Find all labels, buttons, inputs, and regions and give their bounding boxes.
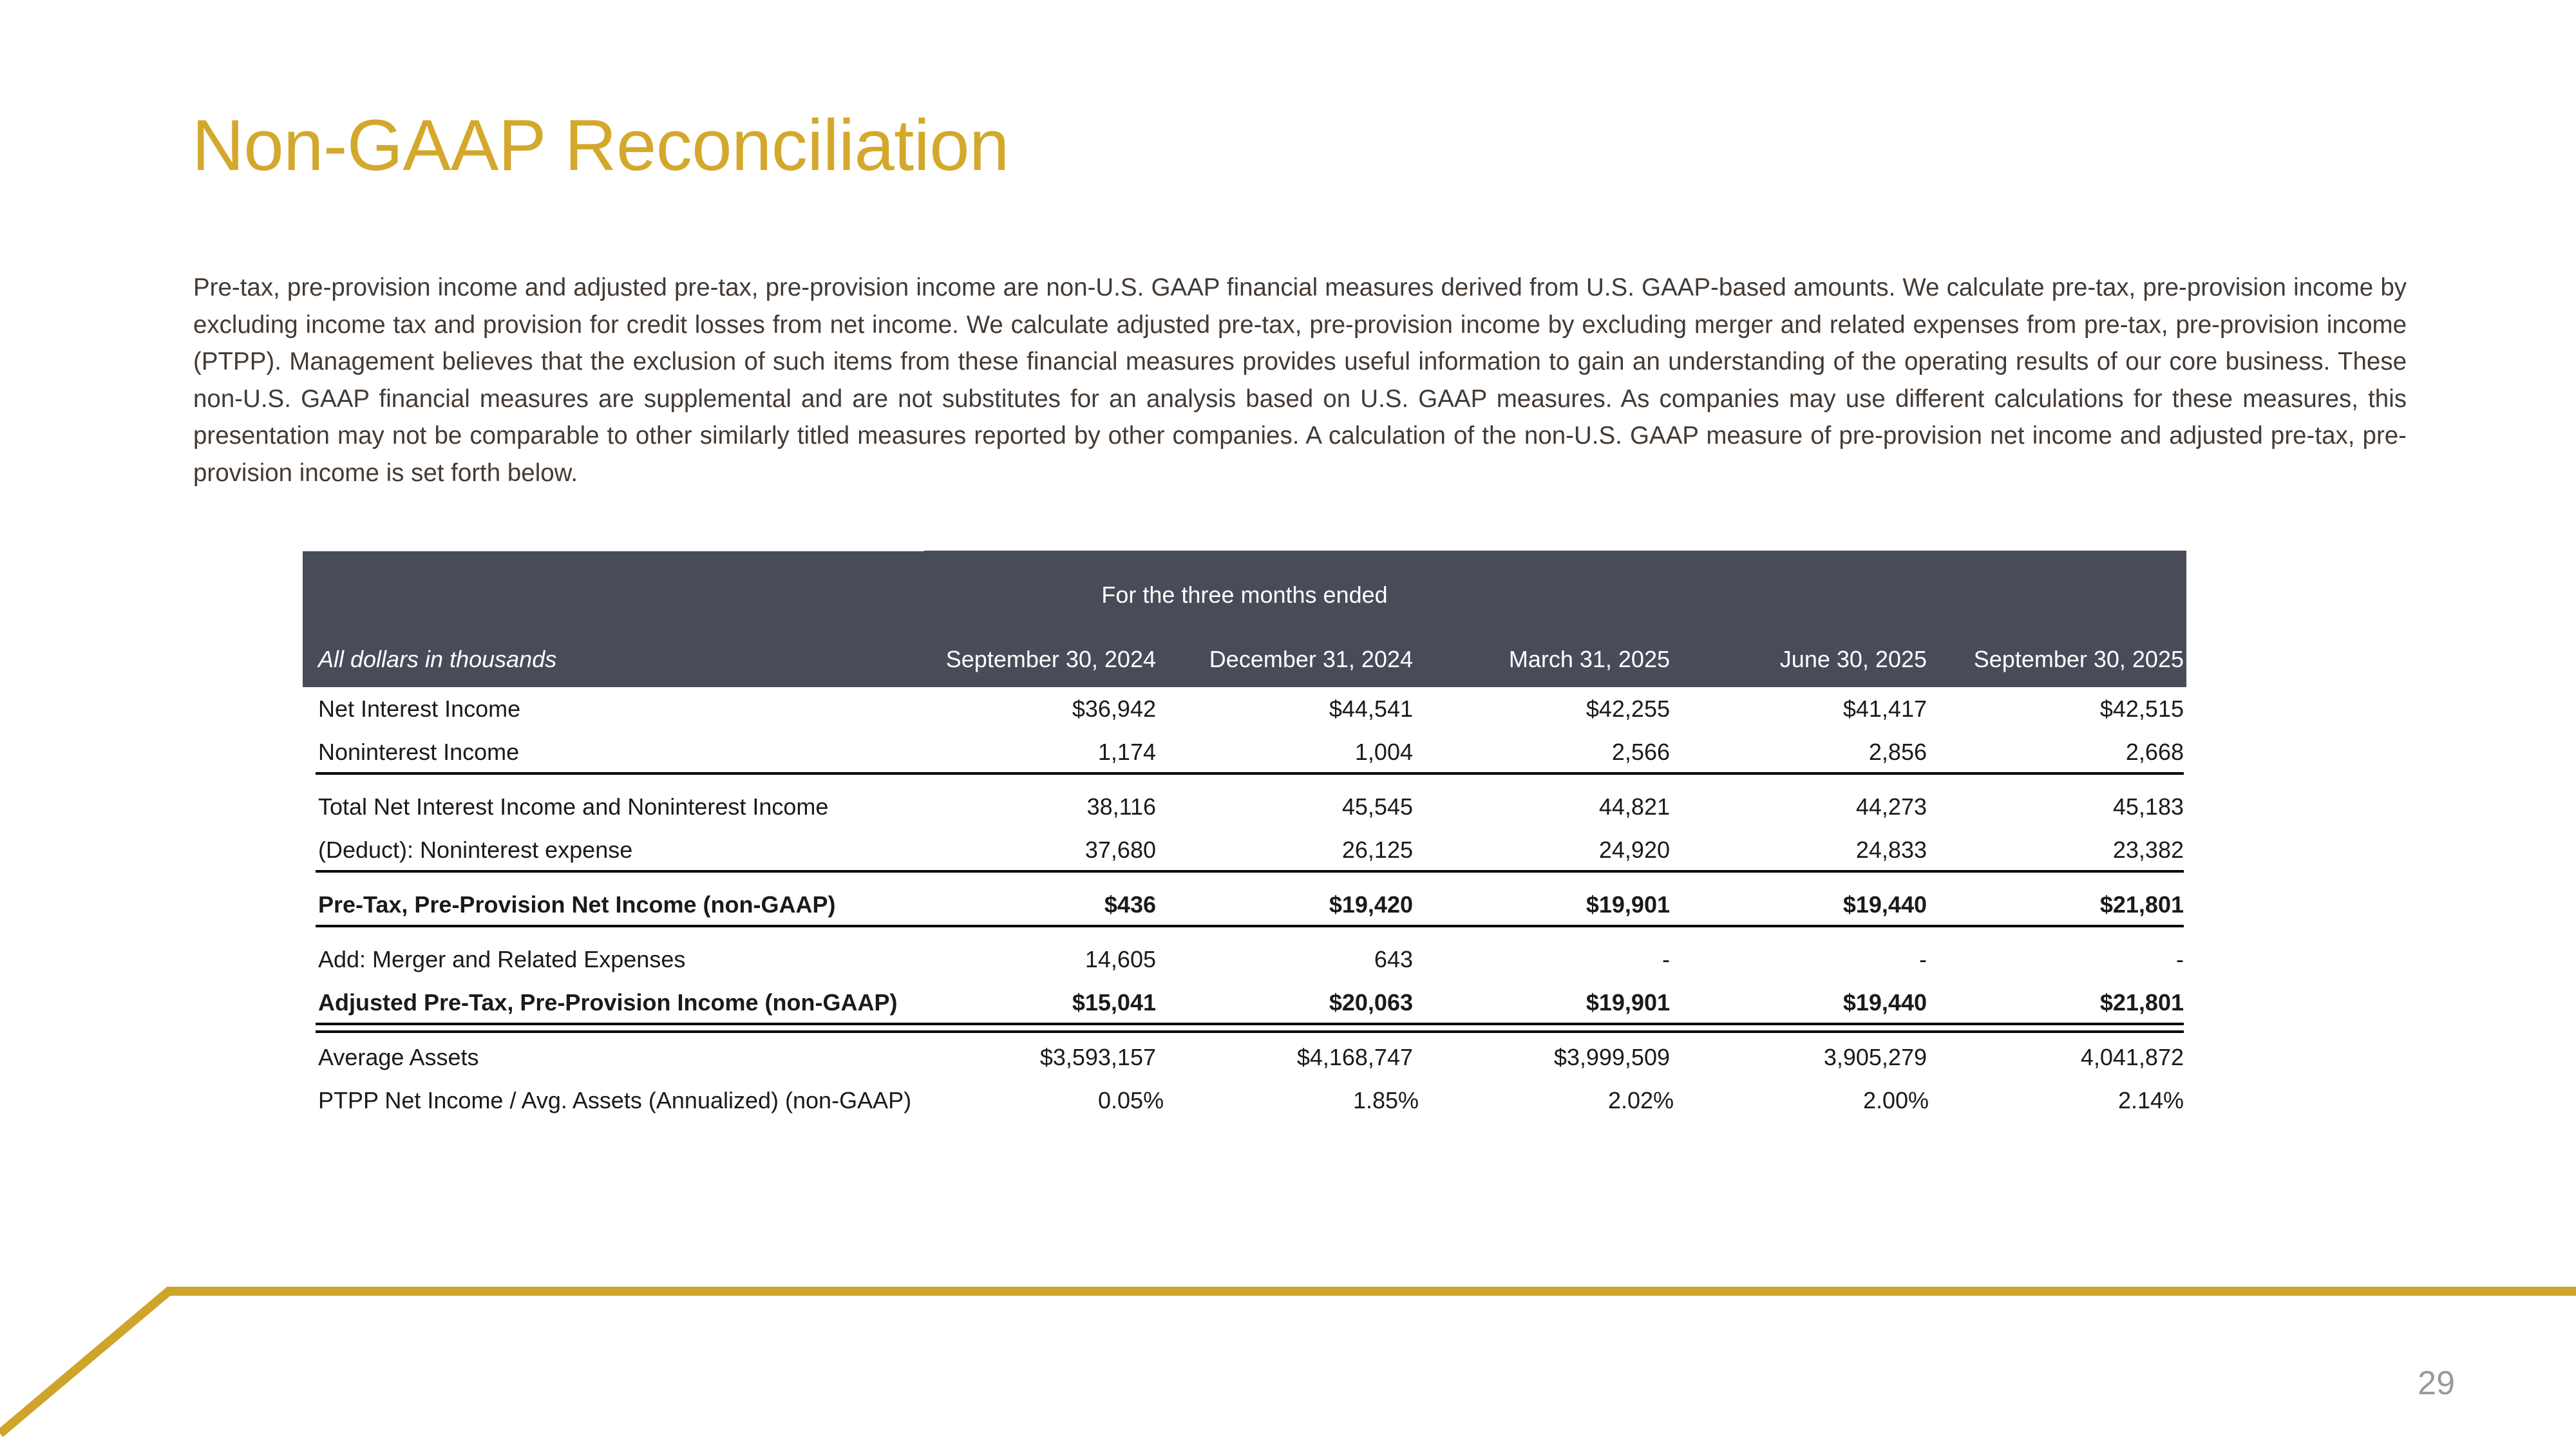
row-value: $4,168,747 (1159, 1044, 1416, 1071)
table-row: (Deduct): Noninterest expense37,68026,12… (303, 828, 2186, 871)
row-label: Adjusted Pre-Tax, Pre-Provision Income (… (303, 989, 902, 1016)
row-label: Total Net Interest Income and Noninteres… (303, 793, 902, 820)
row-value: 1,174 (902, 739, 1159, 766)
period-header: For the three months ended (303, 582, 2186, 609)
row-label: Noninterest Income (303, 739, 902, 766)
row-value: - (1416, 946, 1672, 973)
table-row: Add: Merger and Related Expenses14,60564… (303, 938, 2186, 981)
row-value: $19,901 (1416, 891, 1672, 918)
table-row: Total Net Interest Income and Noninteres… (303, 785, 2186, 828)
row-value: 45,183 (1929, 793, 2186, 820)
row-value: 1,004 (1159, 739, 1416, 766)
row-value: $42,255 (1416, 696, 1672, 723)
row-value: 24,833 (1672, 837, 1929, 864)
row-value: 44,821 (1416, 793, 1672, 820)
row-value: $42,515 (1929, 696, 2186, 723)
row-value: $436 (902, 891, 1159, 918)
units-label: All dollars in thousands (303, 646, 902, 673)
column-header-4: September 30, 2025 (1929, 646, 2186, 673)
row-value: $19,901 (1416, 989, 1672, 1016)
row-value: 3,905,279 (1672, 1044, 1929, 1071)
row-value: 38,116 (902, 793, 1159, 820)
row-value: $3,593,157 (902, 1044, 1159, 1071)
disclosure-paragraph: Pre-tax, pre-provision income and adjust… (193, 269, 2407, 491)
table-row: Pre-Tax, Pre-Provision Net Income (non-G… (303, 883, 2186, 926)
row-value: $21,801 (1929, 989, 2186, 1016)
row-value: 643 (1159, 946, 1416, 973)
gold-accent-line (0, 1262, 2576, 1449)
row-value: 14,605 (902, 946, 1159, 973)
row-value: 24,920 (1416, 837, 1672, 864)
table-header-band: For the three months ended All dollars i… (303, 551, 2186, 687)
row-value: $19,440 (1672, 891, 1929, 918)
row-value: $20,063 (1159, 989, 1416, 1016)
row-value: 0.05% (911, 1087, 1166, 1114)
table-row: Adjusted Pre-Tax, Pre-Provision Income (… (303, 981, 2186, 1024)
row-value: $15,041 (902, 989, 1159, 1016)
row-label: PTPP Net Income / Avg. Assets (Annualize… (303, 1087, 911, 1114)
row-value: 2,856 (1672, 739, 1929, 766)
row-value: $41,417 (1672, 696, 1929, 723)
row-label: Net Interest Income (303, 696, 902, 723)
row-value: 2.00% (1676, 1087, 1931, 1114)
column-header-3: June 30, 2025 (1672, 646, 1929, 673)
page-title: Non-GAAP Reconciliation (192, 109, 1009, 182)
header-notch (303, 545, 924, 551)
row-value: $21,801 (1929, 891, 2186, 918)
row-value: 2.02% (1421, 1087, 1676, 1114)
row-value: 44,273 (1672, 793, 1929, 820)
non-gaap-reconciliation-table: For the three months ended All dollars i… (303, 551, 2186, 1122)
column-header-1: December 31, 2024 (1159, 646, 1416, 673)
row-value: $3,999,509 (1416, 1044, 1672, 1071)
page-number: 29 (2418, 1364, 2455, 1403)
row-value: $19,420 (1159, 891, 1416, 918)
row-value: 37,680 (902, 837, 1159, 864)
row-label: Pre-Tax, Pre-Provision Net Income (non-G… (303, 891, 902, 918)
row-value: $19,440 (1672, 989, 1929, 1016)
table-row: PTPP Net Income / Avg. Assets (Annualize… (303, 1079, 2186, 1122)
row-value: 4,041,872 (1929, 1044, 2186, 1071)
row-value: 2.14% (1931, 1087, 2186, 1114)
table-body: Net Interest Income$36,942$44,541$42,255… (303, 687, 2186, 1122)
row-label: Average Assets (303, 1044, 902, 1071)
row-value: $36,942 (902, 696, 1159, 723)
row-label: (Deduct): Noninterest expense (303, 837, 902, 864)
row-value: 23,382 (1929, 837, 2186, 864)
table-row: Noninterest Income1,1741,0042,5662,8562,… (303, 730, 2186, 773)
row-value: 2,668 (1929, 739, 2186, 766)
row-value: - (1672, 946, 1929, 973)
row-label: Add: Merger and Related Expenses (303, 946, 902, 973)
row-value: 45,545 (1159, 793, 1416, 820)
table-row: Average Assets$3,593,157$4,168,747$3,999… (303, 1036, 2186, 1079)
row-value: $44,541 (1159, 696, 1416, 723)
row-value: 1.85% (1166, 1087, 1421, 1114)
column-header-2: March 31, 2025 (1416, 646, 1672, 673)
column-header-row: All dollars in thousands September 30, 2… (303, 646, 2186, 673)
row-value: - (1929, 946, 2186, 973)
column-header-0: September 30, 2024 (902, 646, 1159, 673)
row-value: 26,125 (1159, 837, 1416, 864)
row-value: 2,566 (1416, 739, 1672, 766)
table-row: Net Interest Income$36,942$44,541$42,255… (303, 687, 2186, 730)
